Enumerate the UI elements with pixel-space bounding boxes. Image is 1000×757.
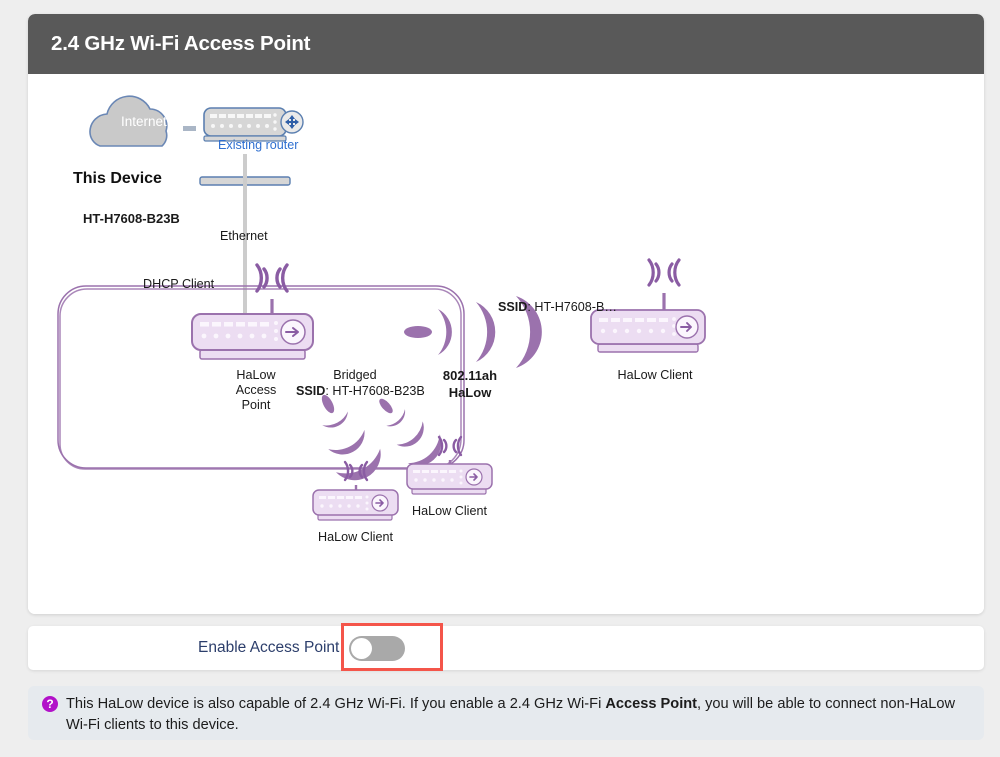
radio-standard-label-line1: 802.11ah — [430, 368, 510, 383]
card-header: 2.4 GHz Wi-Fi Access Point — [28, 14, 984, 74]
halow-client-bottom-right-label: HaLow Client — [407, 504, 492, 519]
bridged-ssid: SSID: HT-H7608-B23B — [296, 384, 425, 398]
access-point-card: 2.4 GHz Wi-Fi Access Point — [28, 14, 984, 614]
enable-access-point-toggle[interactable] — [349, 636, 405, 661]
info-text: ?This HaLow device is also capable of 2.… — [42, 694, 970, 736]
this-device-heading: This Device — [73, 170, 162, 188]
network-diagram: Internet Existing router This Device HT-… — [28, 74, 984, 614]
internet-cloud-label: Internet — [121, 114, 167, 129]
bridged-ssid-value: : HT-H7608-B23B — [325, 384, 424, 398]
access-point-label-line1: HaLow — [226, 368, 286, 383]
bridged-label: Bridged — [318, 368, 392, 383]
client-ssid-key: SSID — [498, 300, 527, 314]
question-mark-icon: ? — [42, 696, 58, 712]
toggle-knob[interactable] — [351, 638, 372, 659]
access-point-label-line2: Access — [226, 383, 286, 398]
halow-client-right-label: HaLow Client — [598, 368, 712, 383]
device-model-label: HT-H7608-B23B — [83, 211, 180, 226]
radio-standard-label-line2: HaLow — [430, 385, 510, 400]
existing-router-label: Existing router — [218, 138, 299, 152]
enable-access-point-row: Enable Access Point — [28, 626, 984, 670]
diagram-graphics — [28, 74, 984, 614]
info-text-part1: This HaLow device is also capable of 2.4… — [66, 696, 605, 712]
cloud-router-connector — [183, 126, 196, 131]
info-text-bold: Access Point — [605, 696, 697, 712]
client-ssid-value: : HT-H7608-B… — [527, 300, 617, 314]
client-ssid: SSID: HT-H7608-B… — [498, 300, 617, 314]
enable-access-point-label: Enable Access Point — [198, 639, 339, 657]
halow-client-bottom-left-icon — [313, 462, 398, 520]
dhcp-client-label: DHCP Client — [143, 277, 214, 292]
access-point-label-line3: Point — [226, 398, 286, 413]
diagram-container: Internet Existing router This Device HT-… — [28, 74, 984, 614]
halow-client-bottom-left-label: HaLow Client — [313, 530, 398, 545]
halow-client-bottom-right-icon — [407, 437, 492, 494]
page-root: 2.4 GHz Wi-Fi Access Point — [0, 0, 1000, 757]
page-title: 2.4 GHz Wi-Fi Access Point — [51, 32, 310, 56]
ethernet-label: Ethernet — [220, 229, 268, 244]
bridged-ssid-key: SSID — [296, 384, 325, 398]
info-panel: ?This HaLow device is also capable of 2.… — [28, 686, 984, 740]
